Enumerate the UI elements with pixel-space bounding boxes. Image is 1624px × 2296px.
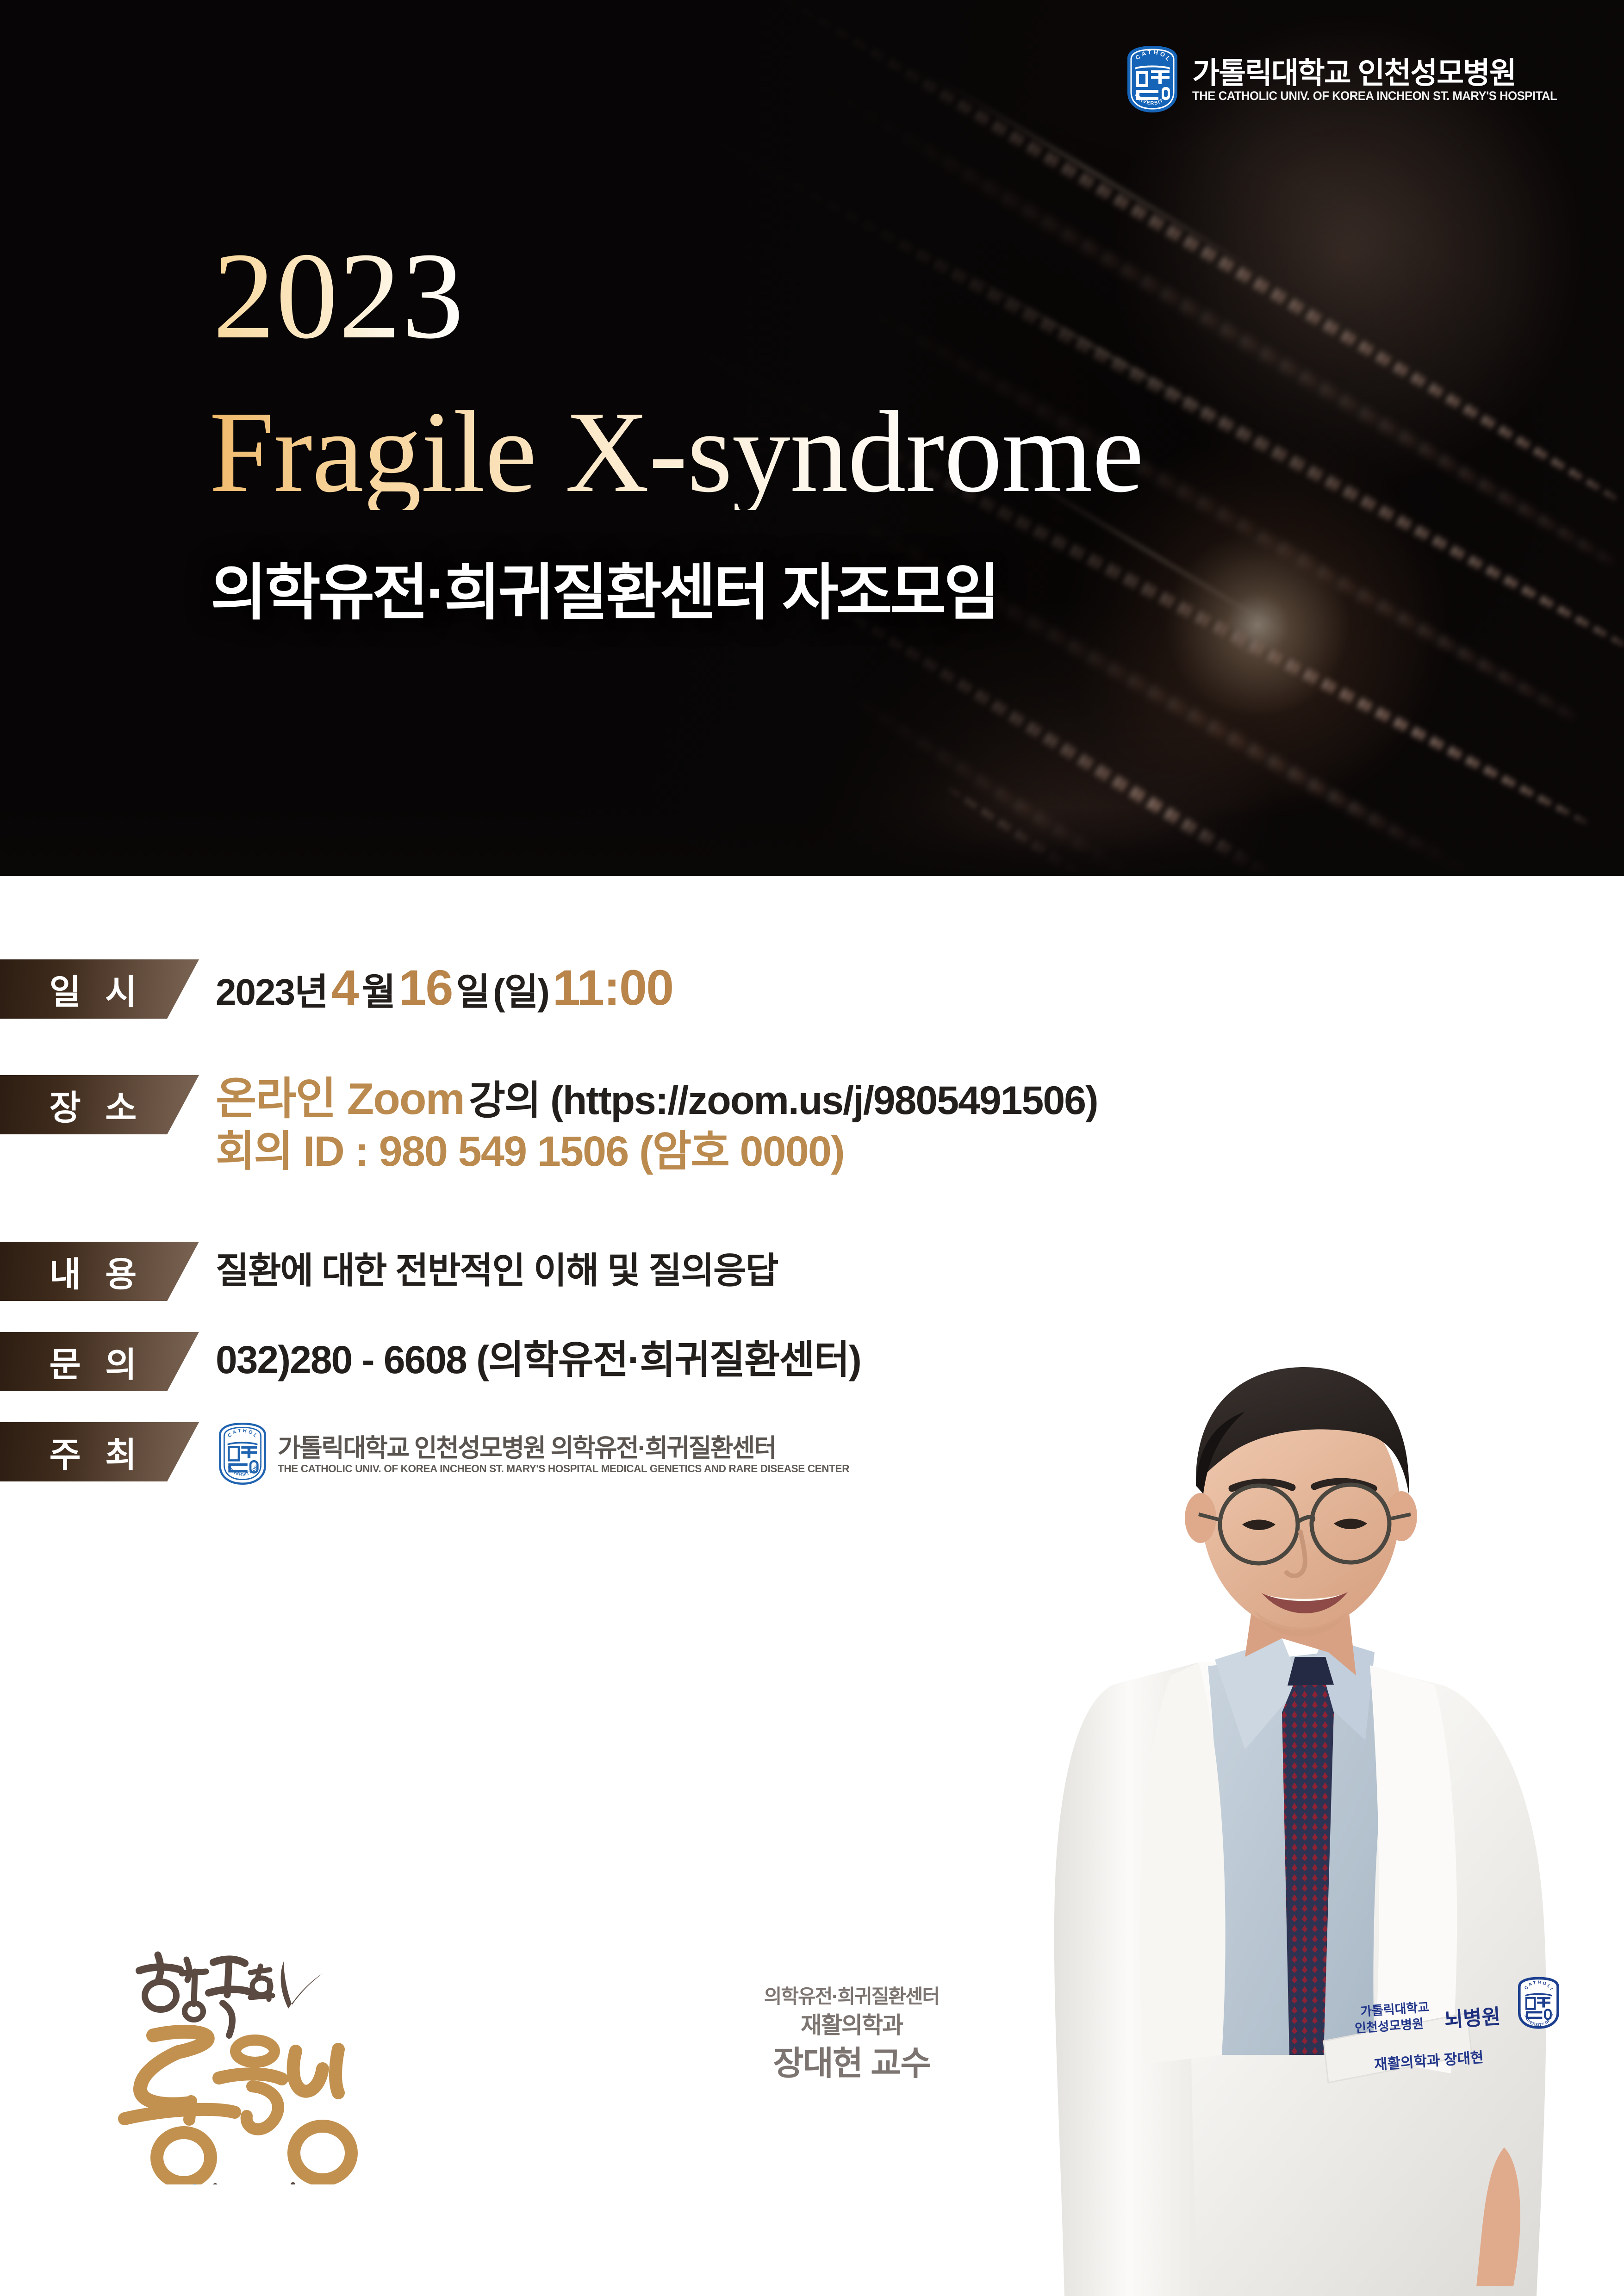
- place-highlight: 온라인 Zoom: [216, 1076, 464, 1123]
- speaker-caption: 의학유전·희귀질환센터 재활의학과 장대현 교수: [676, 1985, 1027, 2084]
- label-contact-text: 문 의: [42, 1337, 144, 1387]
- contact-value: 032)280 - 6608 (의학유전·희귀질환센터): [216, 1339, 861, 1380]
- speaker-photo: 가톨릭대학교 인천성모병원 뇌병원 재활의학과 장대현 CATHOLIC UNI…: [1004, 1333, 1624, 2296]
- date-time: 11:00: [553, 961, 673, 1014]
- info-row-contact: 문 의 032)280 - 6608 (의학유전·희귀질환센터): [0, 1332, 861, 1391]
- happy-companion-logo: [113, 1925, 373, 2184]
- label-place: 장 소: [0, 1075, 199, 1134]
- host-name-ko: 가톨릭대학교 인천성모병원 의학유전·희귀질환센터: [278, 1436, 861, 1461]
- catholic-university-crest-icon: CATHOLIC UNIVERSITY OF KOREA: [1125, 44, 1180, 116]
- date-weekday: (일): [493, 973, 549, 1012]
- meeting-id-value: 회의 ID : 980 549 1506 (암호 0000): [216, 1129, 1098, 1174]
- info-row-host: 주 최 CATHOLIC UNIVERSITY OF KOREA: [0, 1422, 861, 1487]
- label-contact: 문 의: [0, 1332, 199, 1391]
- speaker-department: 재활의학과: [676, 2011, 1027, 2039]
- place-value: 온라인 Zoom 강의 (https://zoom.us/j/980549150…: [216, 1076, 1098, 1123]
- hero-banner: CATHOLIC UNIVERSITY OF KOREA 가톨릭: [0, 0, 1624, 876]
- info-row-content: 내 용 질환에 대한 전반적인 이해 및 질의응답: [0, 1242, 778, 1301]
- date-day-num: 16: [398, 961, 452, 1014]
- svg-text:뇌병원: 뇌병원: [1444, 2005, 1501, 2032]
- date-month-unit: 월: [362, 973, 395, 1012]
- hospital-name-en: THE CATHOLIC UNIV. OF KOREA INCHEON ST. …: [1192, 90, 1557, 102]
- info-row-datetime: 일 시 2023년 4 월 16 일 (일) 11:00: [0, 959, 677, 1019]
- label-place-text: 장 소: [42, 1080, 144, 1130]
- place-url: 강의 (https://zoom.us/j/9805491506): [469, 1080, 1098, 1121]
- poster-title-main: Fragile X-syndrome: [209, 393, 1144, 510]
- datetime-value: 2023년 4 월 16 일 (일) 11:00: [216, 961, 677, 1014]
- label-datetime-text: 일 시: [42, 964, 144, 1014]
- info-row-place: 장 소 온라인 Zoom 강의 (https://zoom.us/j/98054…: [0, 1075, 1098, 1174]
- date-day-unit: 일: [456, 973, 489, 1012]
- poster-title-year: 2023: [213, 234, 465, 358]
- speaker-name-title: 장대현 교수: [676, 2044, 1027, 2084]
- date-year: 2023년: [216, 973, 328, 1012]
- label-content-text: 내 용: [42, 1247, 144, 1296]
- hospital-logo-header: CATHOLIC UNIVERSITY OF KOREA 가톨릭: [1125, 44, 1568, 116]
- host-logo-lockup: CATHOLIC UNIVERSITY OF KOREA: [199, 1422, 861, 1487]
- catholic-university-crest-icon-small: CATHOLIC UNIVERSITY OF KOREA: [218, 1422, 268, 1487]
- label-content: 내 용: [0, 1242, 199, 1301]
- speaker-center: 의학유전·희귀질환센터: [676, 1985, 1027, 2008]
- poster-title-sub: 의학유전·희귀질환센터 자조모임: [211, 562, 998, 623]
- date-month-num: 4: [331, 961, 358, 1014]
- hospital-name-ko: 가톨릭대학교 인천성모병원: [1192, 58, 1568, 88]
- label-host-text: 주 최: [42, 1427, 144, 1477]
- content-value: 질환에 대한 전반적인 이해 및 질의응답: [216, 1252, 778, 1290]
- label-datetime: 일 시: [0, 959, 199, 1019]
- label-host: 주 최: [0, 1422, 199, 1481]
- host-name-en: THE CATHOLIC UNIV. OF KOREA INCHEON ST. …: [278, 1463, 849, 1474]
